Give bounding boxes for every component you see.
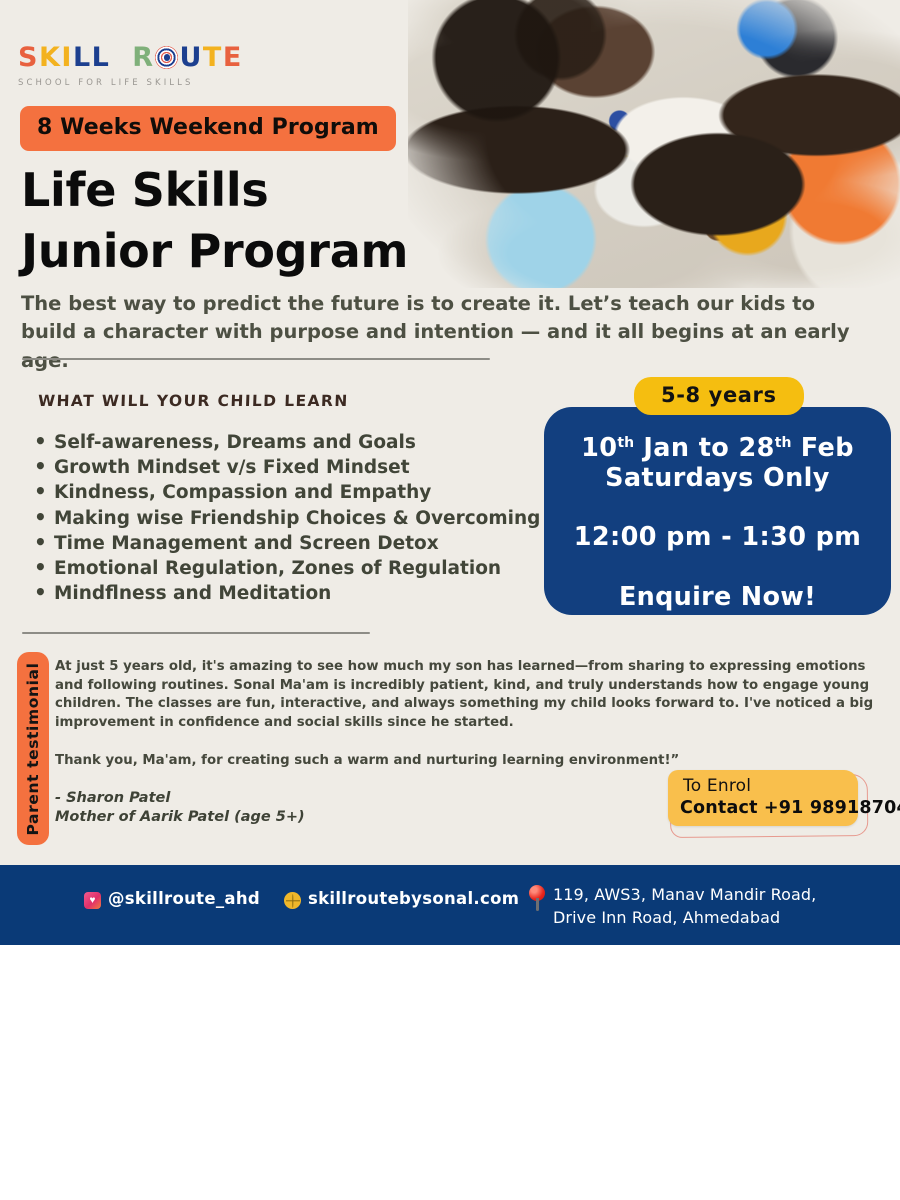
map-pin-icon	[528, 885, 546, 911]
website-url: skillroutebysonal.com	[308, 890, 519, 909]
parent-testimonial-tab: Parent testimonial	[17, 652, 49, 845]
date-mid: Jan to	[634, 433, 738, 463]
enquire-now-cta[interactable]: Enquire Now!	[544, 582, 891, 612]
learn-heading: WHAT WILL YOUR CHILD LEARN	[38, 392, 349, 410]
enrol-contact: Contact +91 9891870447	[680, 798, 900, 818]
list-item: Making wise Friendship Choices & Overcom…	[54, 506, 614, 531]
testimonial-paragraph-1: At just 5 years old, it's amazing to see…	[55, 658, 887, 732]
hero-photo	[408, 0, 900, 288]
date-start-day: 10	[581, 433, 617, 463]
testimonial-author: - Sharon Patel	[55, 789, 305, 808]
enrol-button[interactable]: To Enrol Contact +91 9891870447	[668, 770, 866, 832]
list-item: Kindness, Compassion and Empathy	[54, 480, 614, 505]
program-info-card: 10th Jan to 28th Feb Saturdays Only 12:0…	[544, 407, 891, 615]
logo-tagline: SCHOOL FOR LIFE SKILLS	[18, 78, 278, 88]
children-activity-photo	[408, 0, 900, 288]
footer-website[interactable]: skillroutebysonal.com	[284, 890, 519, 909]
title-line-2: Junior Program	[21, 221, 408, 282]
list-item: Self-awareness, Dreams and Goals	[54, 430, 614, 455]
address-text: 119, AWS3, Manav Mandir Road, Drive Inn …	[553, 883, 816, 929]
parent-testimonial-label: Parent testimonial	[24, 662, 42, 835]
list-item: Emotional Regulation, Zones of Regulatio…	[54, 556, 614, 581]
footer: @skillroute_ahd skillroutebysonal.com 11…	[0, 865, 900, 945]
hero-subtitle: The best way to predict the future is to…	[21, 290, 861, 375]
heart-icon	[84, 892, 101, 909]
logo-wordmark: SKILL RUTE	[18, 44, 278, 71]
list-item: Growth Mindset v/s Fixed Mindset	[54, 455, 614, 480]
weeks-badge: 8 Weeks Weekend Program	[20, 106, 396, 151]
page-title: Life Skills Junior Program	[21, 160, 408, 282]
testimonial-author-detail: Mother of Aarik Patel (age 5+)	[55, 808, 305, 827]
date-start-sup: th	[617, 435, 634, 451]
globe-icon	[284, 892, 301, 909]
divider-top	[22, 358, 490, 360]
instagram-handle: @skillroute_ahd	[108, 890, 260, 909]
footer-address: 119, AWS3, Manav Mandir Road, Drive Inn …	[528, 883, 816, 929]
list-item: Time Management and Screen Detox	[54, 531, 614, 556]
mandala-icon	[155, 46, 178, 69]
poster: SKILL RUTE SCHOOL FOR LIFE SKILLS 8 Week…	[0, 0, 900, 945]
program-dates: 10th Jan to 28th Feb Saturdays Only	[544, 428, 891, 493]
testimonial-text: At just 5 years old, it's amazing to see…	[55, 658, 887, 771]
date-end-month: Feb	[791, 433, 853, 463]
brand-logo: SKILL RUTE SCHOOL FOR LIFE SKILLS	[18, 44, 278, 88]
date-end-day: 28	[738, 433, 774, 463]
address-line-1: 119, AWS3, Manav Mandir Road,	[553, 885, 816, 904]
testimonial-attribution: - Sharon Patel Mother of Aarik Patel (ag…	[55, 789, 305, 827]
program-days: Saturdays Only	[544, 463, 891, 493]
age-badge: 5-8 years	[634, 377, 804, 415]
list-item: Mindflness and Meditation	[54, 581, 614, 606]
program-time: 12:00 pm - 1:30 pm	[544, 522, 891, 552]
title-line-1: Life Skills	[21, 160, 408, 221]
testimonial-paragraph-2: Thank you, Ma'am, for creating such a wa…	[55, 752, 887, 771]
address-line-2: Drive Inn Road, Ahmedabad	[553, 908, 780, 927]
date-end-sup: th	[775, 435, 792, 451]
footer-instagram[interactable]: @skillroute_ahd	[84, 890, 260, 909]
divider-bottom	[22, 632, 370, 634]
enrol-label: To Enrol	[683, 776, 751, 796]
learn-list: Self-awareness, Dreams and Goals Growth …	[32, 430, 614, 606]
